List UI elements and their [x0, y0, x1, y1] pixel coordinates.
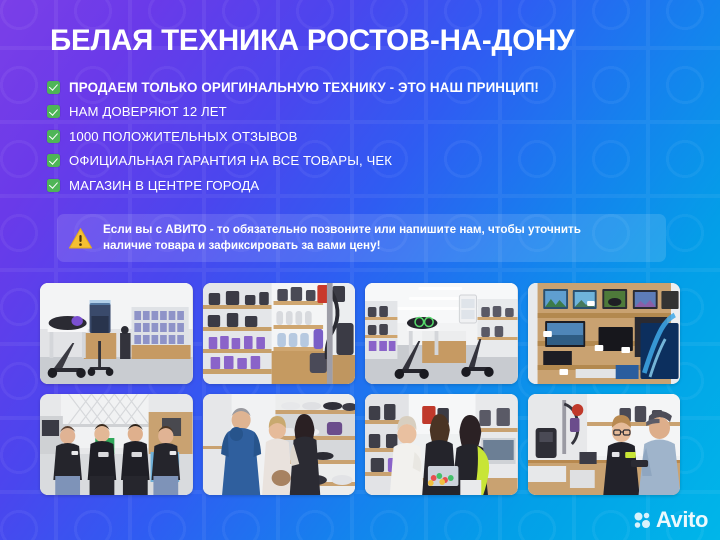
- gallery-photo[interactable]: [203, 283, 356, 384]
- feature-label: МАГАЗИН В ЦЕНТРЕ ГОРОДА: [69, 178, 259, 193]
- list-item: 1000 ПОЛОЖИТЕЛЬНЫХ ОТЗЫВОВ: [47, 124, 687, 149]
- promo-poster: БЕЛАЯ ТЕХНИКА РОСТОВ-НА-ДОНУ ПРОДАЕМ ТОЛ…: [0, 0, 720, 540]
- check-icon: [47, 81, 60, 94]
- notice-text-block: Если вы с АВИТО - то обязательно позвони…: [103, 222, 581, 254]
- check-icon: [47, 179, 60, 192]
- feature-label: НАМ ДОВЕРЯЮТ 12 ЛЕТ: [69, 104, 227, 119]
- page-title: БЕЛАЯ ТЕХНИКА РОСТОВ-НА-ДОНУ: [50, 26, 674, 57]
- notice-banner: Если вы с АВИТО - то обязательно позвони…: [57, 214, 666, 262]
- warning-triangle-icon: [68, 227, 93, 250]
- avito-dots-icon: [634, 512, 651, 529]
- notice-line-2: наличие товара и зафиксировать за вами ц…: [103, 238, 581, 254]
- gallery-photo[interactable]: [40, 394, 193, 495]
- gallery-photo[interactable]: [365, 394, 518, 495]
- feature-label: ОФИЦИАЛЬНАЯ ГАРАНТИЯ НА ВСЕ ТОВАРЫ, ЧЕК: [69, 153, 392, 168]
- gallery-photo[interactable]: [203, 394, 356, 495]
- check-icon: [47, 130, 60, 143]
- gallery-photo[interactable]: [528, 394, 681, 495]
- gallery-photo[interactable]: [365, 283, 518, 384]
- notice-line-1: Если вы с АВИТО - то обязательно позвони…: [103, 222, 581, 238]
- avito-brand-text: Avito: [656, 509, 708, 531]
- list-item: НАМ ДОВЕРЯЮТ 12 ЛЕТ: [47, 100, 687, 125]
- list-item: ПРОДАЕМ ТОЛЬКО ОРИГИНАЛЬНУЮ ТЕХНИКУ - ЭТ…: [47, 75, 687, 100]
- list-item: МАГАЗИН В ЦЕНТРЕ ГОРОДА: [47, 173, 687, 198]
- feature-label: 1000 ПОЛОЖИТЕЛЬНЫХ ОТЗЫВОВ: [69, 129, 298, 144]
- feature-list: ПРОДАЕМ ТОЛЬКО ОРИГИНАЛЬНУЮ ТЕХНИКУ - ЭТ…: [47, 75, 687, 198]
- photo-gallery: [40, 283, 680, 495]
- feature-label: ПРОДАЕМ ТОЛЬКО ОРИГИНАЛЬНУЮ ТЕХНИКУ - ЭТ…: [69, 80, 539, 95]
- list-item: ОФИЦИАЛЬНАЯ ГАРАНТИЯ НА ВСЕ ТОВАРЫ, ЧЕК: [47, 149, 687, 174]
- check-icon: [47, 105, 60, 118]
- gallery-photo[interactable]: [528, 283, 681, 384]
- avito-watermark: Avito: [634, 509, 708, 531]
- gallery-photo[interactable]: [40, 283, 193, 384]
- check-icon: [47, 154, 60, 167]
